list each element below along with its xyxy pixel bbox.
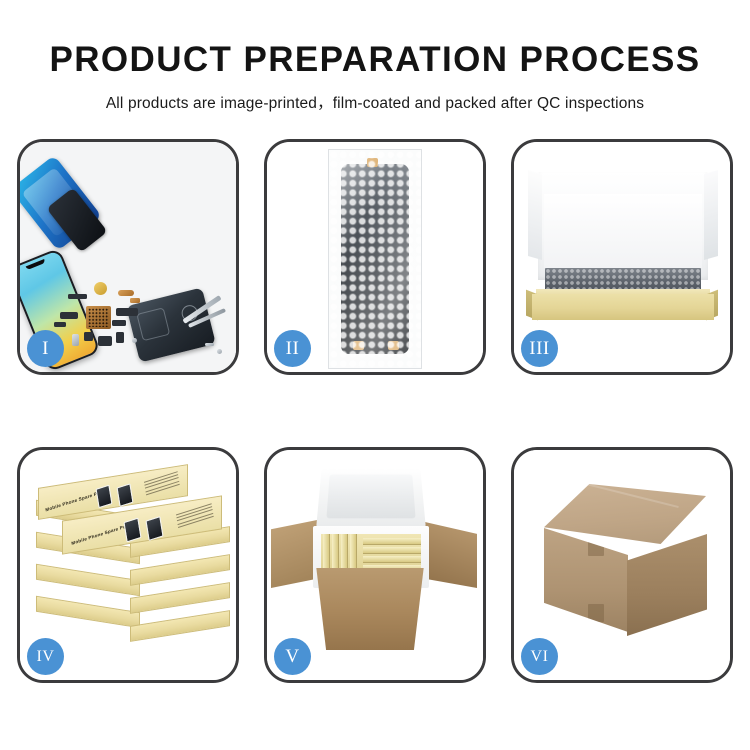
connector-icon	[118, 290, 134, 296]
box-phone-image	[117, 483, 134, 507]
retail-box-edge	[363, 538, 421, 545]
retail-box-stack: Mobile Phone Spare Parts Mobile Phone Sp…	[34, 468, 230, 668]
connector-icon	[116, 332, 124, 343]
button-component-icon	[84, 332, 93, 341]
tape-patch-icon	[588, 604, 604, 622]
mailer-box-front	[532, 294, 714, 320]
styrofoam-lid-icon	[316, 468, 426, 529]
step-badge-3: III	[521, 330, 558, 367]
chip-array-icon	[86, 306, 111, 329]
process-grid: I II	[17, 139, 733, 693]
box-phone-image	[123, 518, 141, 543]
carton-right-face	[627, 534, 707, 636]
box-phone-image	[145, 516, 163, 541]
screw-icon	[217, 349, 222, 354]
retail-box	[130, 610, 230, 642]
process-step-2[interactable]: II	[264, 139, 486, 375]
screw-icon	[132, 338, 137, 343]
connector-icon	[130, 298, 140, 303]
carton-front-panel	[309, 568, 431, 650]
screw-icon	[205, 343, 214, 346]
process-step-3[interactable]: III	[511, 139, 733, 375]
box-spec-lines	[144, 471, 180, 497]
step-badge-6: VI	[521, 638, 558, 675]
retail-box-edge	[363, 547, 421, 554]
process-step-4[interactable]: Mobile Phone Spare Parts Mobile Phone Sp…	[17, 447, 239, 683]
process-step-6[interactable]: VI	[511, 447, 733, 683]
notch-icon	[25, 259, 45, 270]
bubble-wrap-pouch	[329, 150, 421, 368]
retail-box	[130, 582, 230, 614]
product-preparation-infographic: PRODUCT PREPARATION PROCESS All products…	[0, 0, 750, 750]
page-subtitle: All products are image-printed，film-coat…	[0, 91, 750, 113]
flex-cable-icon	[68, 294, 87, 299]
box-spec-lines	[176, 503, 214, 530]
retail-box	[36, 564, 140, 596]
page-title: PRODUCT PREPARATION PROCESS	[0, 42, 750, 79]
retail-box	[36, 596, 140, 628]
carton-seam	[581, 481, 679, 507]
connector-icon	[112, 320, 126, 326]
step-badge-4: IV	[27, 638, 64, 675]
carton-flap-right	[425, 522, 477, 588]
step-badge-1: I	[27, 330, 64, 367]
foam-sheet-icon	[544, 194, 702, 268]
process-step-1[interactable]: I	[17, 139, 239, 375]
speaker-component-icon	[94, 282, 107, 295]
flex-cable-icon	[54, 322, 66, 327]
camera-module-icon	[98, 336, 112, 346]
header: PRODUCT PREPARATION PROCESS All products…	[0, 0, 750, 113]
sim-tray-icon	[72, 334, 79, 346]
process-step-5[interactable]: V	[264, 447, 486, 683]
carton-left-face	[544, 528, 628, 632]
retail-box	[130, 554, 230, 586]
retail-box-edge	[363, 556, 421, 563]
step-badge-2: II	[274, 330, 311, 367]
tape-patch-icon	[588, 536, 604, 556]
flex-cable-icon	[116, 308, 138, 316]
step-badge-5: V	[274, 638, 311, 675]
plastic-sheen	[329, 150, 421, 368]
carton-top-face	[544, 484, 706, 544]
flex-cable-icon	[60, 312, 78, 319]
box-phone-image	[96, 485, 113, 509]
